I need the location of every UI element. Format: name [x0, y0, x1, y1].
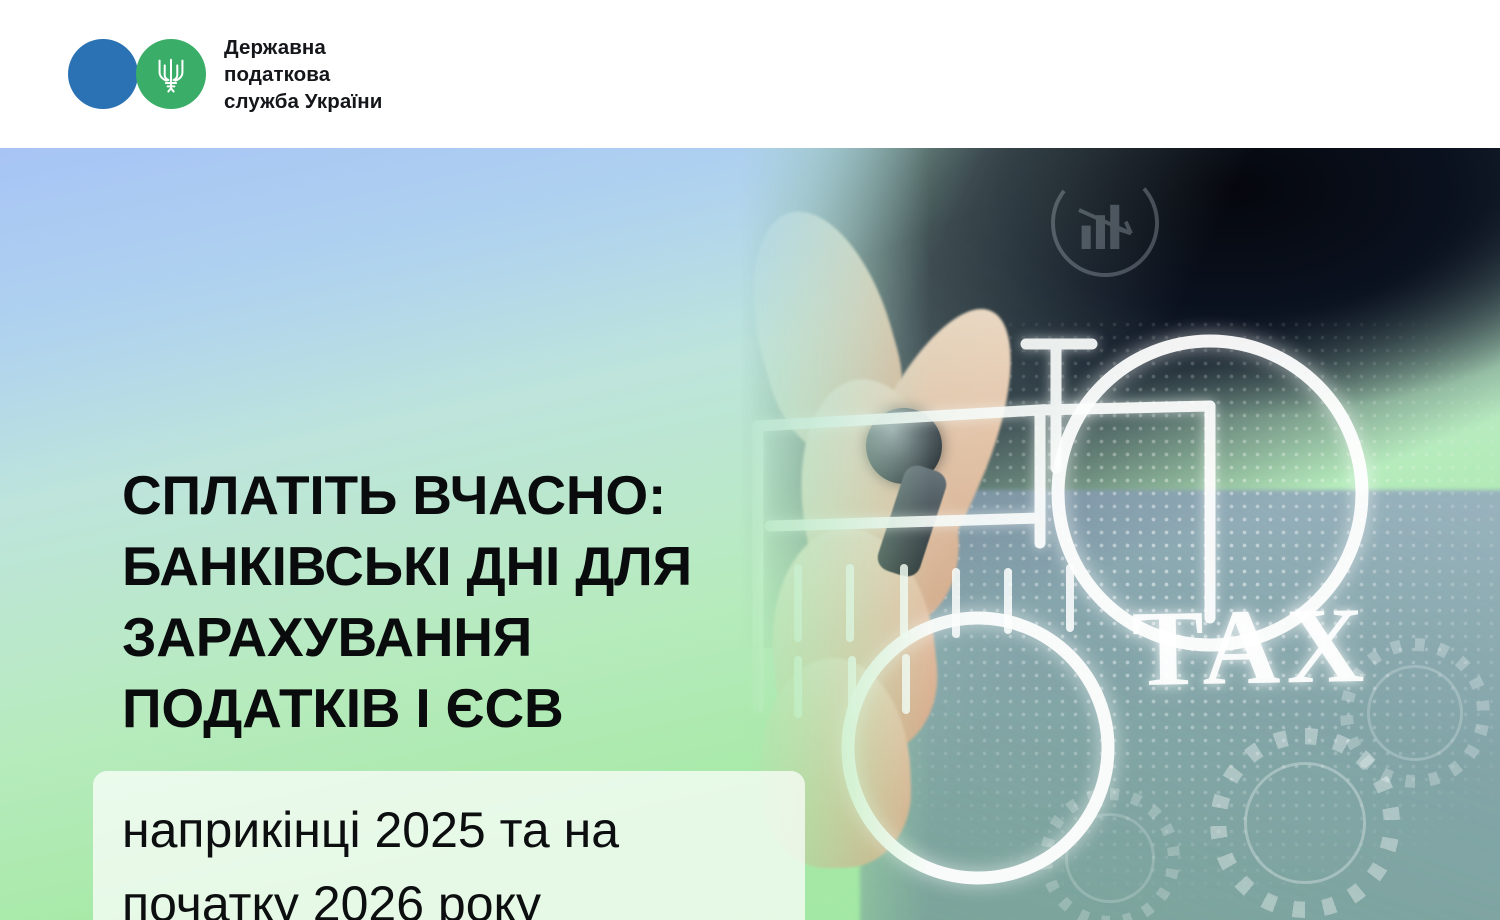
header-bar: Державна податкова служба України: [0, 0, 1500, 148]
tax-overlay-text: TAX: [1131, 584, 1371, 712]
page-title: СПЛАТІТЬ ВЧАСНО: БАНКІВСЬКІ ДНІ ДЛЯ ЗАРА…: [122, 460, 882, 744]
hero-banner: TAX $ СПЛАТІТЬ ВЧАСНО: БАНКІВСЬКІ ДНІ ДЛ…: [0, 148, 1500, 920]
gear-icon: [1040, 788, 1180, 920]
agency-logo[interactable]: [68, 39, 206, 109]
ukrainian-trident-icon: [136, 39, 206, 109]
page-subtitle: наприкінці 2025 та на початку 2026 року: [122, 793, 822, 920]
poster-root: Державна податкова служба України: [0, 0, 1500, 920]
brand-lockup[interactable]: Державна податкова служба України: [68, 34, 382, 115]
logo-circle-blue-icon: [68, 39, 138, 109]
brand-name-text: Державна податкова служба України: [224, 34, 382, 115]
